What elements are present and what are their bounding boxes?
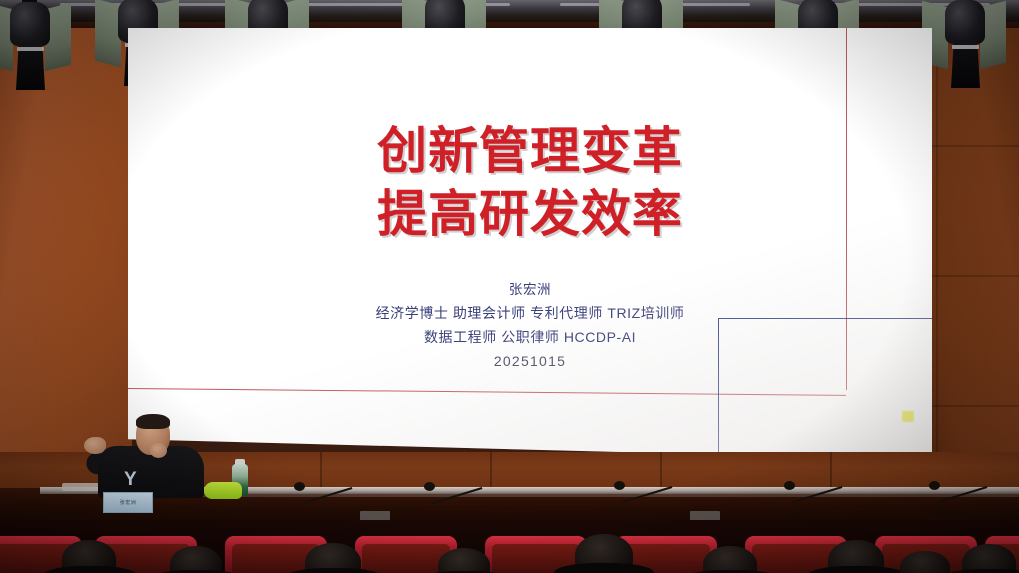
green-pouch: [204, 482, 242, 499]
papers-on-desk: [62, 483, 100, 491]
projection-screen: 创新管理变革 提高研发效率 张宏洲 经济学博士 助理会计师 专利代理师 TRIZ…: [128, 28, 932, 460]
desk-nameplate-text: 张宏洲: [120, 499, 137, 506]
desk-nameplate: 张宏洲: [103, 492, 153, 513]
presenter-hair: [136, 414, 170, 429]
presenter-hand-left: [84, 437, 106, 454]
slide-date: 20251015: [128, 349, 932, 373]
audience-head: [703, 546, 757, 573]
slide-presenter-name: 张宏洲: [128, 278, 932, 301]
audience-shoulders: [554, 563, 654, 573]
slide-title: 创新管理变革 提高研发效率: [128, 123, 932, 242]
slide-marker-yellow: [902, 411, 914, 422]
audience-head: [438, 548, 490, 573]
audience-head: [170, 546, 222, 573]
slide-title-line2: 提高研发效率: [128, 186, 932, 242]
presenter-shirt-logo: Y: [124, 470, 137, 489]
slide-subtitle-block: 张宏洲 经济学博士 助理会计师 专利代理师 TRIZ培训师 数据工程师 公职律师…: [128, 278, 932, 373]
presenter-hand-right: [150, 443, 167, 458]
lecture-hall-scene: 创新管理变革 提高研发效率 张宏洲 经济学博士 助理会计师 专利代理师 TRIZ…: [0, 0, 1019, 573]
slide-credentials-line2: 数据工程师 公职律师 HCCDP-AI: [128, 325, 932, 349]
slide-credentials-line1: 经济学博士 助理会计师 专利代理师 TRIZ培训师: [128, 301, 932, 325]
slide-title-line1: 创新管理变革: [128, 123, 932, 179]
desk-edge-highlight: [150, 494, 1019, 497]
